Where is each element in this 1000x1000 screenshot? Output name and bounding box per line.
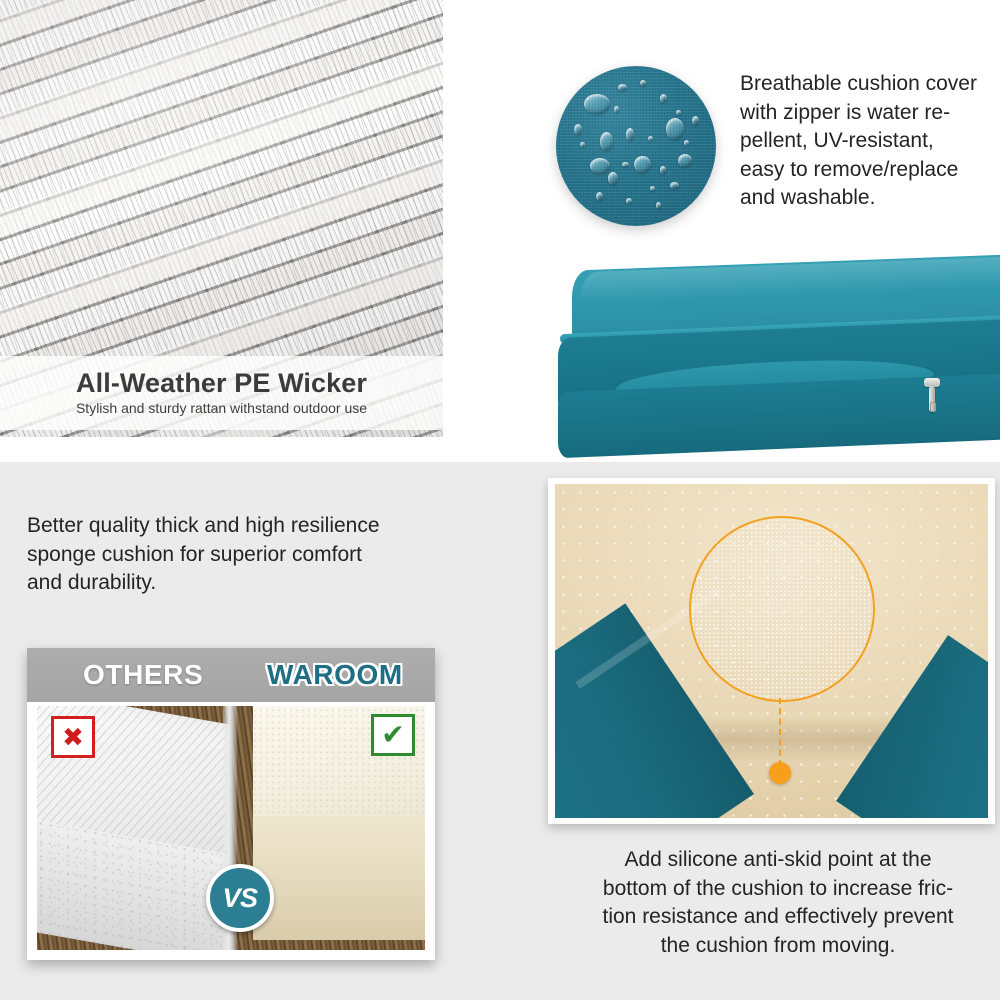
water-repellent-description: Breathable cushion cover with zipper is … <box>740 70 1000 213</box>
zipper-pull-icon <box>924 378 940 412</box>
silicone-point-marker-icon <box>769 762 791 784</box>
waroom-foam-face <box>253 816 425 940</box>
teal-cushion-with-zipper-photo <box>520 250 1000 462</box>
wicker-subtitle: Stylish and sturdy rattan withstand outd… <box>76 401 367 416</box>
infographic-page: All-Weather PE Wicker Stylish and sturdy… <box>0 0 1000 1000</box>
wicker-caption-band: All-Weather PE Wicker Stylish and sturdy… <box>0 356 443 430</box>
anti-skid-description: Add silicone anti-skid point at the bott… <box>556 846 1000 960</box>
copy-line: and durability. <box>27 569 447 598</box>
anti-skid-photo-card <box>548 478 995 824</box>
red-cross-badge-icon: ✖ <box>51 716 95 758</box>
copy-line: Add silicone anti-skid point at the <box>556 846 1000 875</box>
foam-comparison-card: OTHERS WAROOM ✖ ✔ VS <box>27 648 435 960</box>
versus-badge: VS <box>206 864 274 932</box>
copy-line: and washable. <box>740 184 1000 213</box>
copy-line: with zipper is water re- <box>740 99 1000 128</box>
anti-skid-photo <box>555 484 988 818</box>
copy-line: easy to remove/replace <box>740 156 1000 185</box>
comparison-label-waroom: WAROOM <box>267 659 403 691</box>
copy-line: bottom of the cushion to increase fric- <box>556 875 1000 904</box>
water-droplets-circle-icon <box>556 66 716 226</box>
copy-line: pellent, UV-resistant, <box>740 127 1000 156</box>
versus-label: VS <box>222 883 257 914</box>
magnifier-stem <box>779 698 781 766</box>
magnifier-circle-icon <box>689 516 875 702</box>
copy-line: the cushion from moving. <box>556 932 1000 961</box>
copy-line: Breathable cushion cover <box>740 70 1000 99</box>
copy-line: tion resistance and effectively prevent <box>556 903 1000 932</box>
sponge-quality-description: Better quality thick and high resilience… <box>27 512 447 598</box>
green-check-badge-icon: ✔ <box>371 714 415 756</box>
zipper-tab <box>929 386 935 412</box>
comparison-label-others: OTHERS <box>83 659 203 691</box>
cross-glyph: ✖ <box>62 724 84 750</box>
copy-line: Better quality thick and high resilience <box>27 512 447 541</box>
wicker-title: All-Weather PE Wicker <box>76 369 367 397</box>
wicker-photo-panel: All-Weather PE Wicker Stylish and sturdy… <box>0 0 443 437</box>
foam-comparison-photo: ✖ ✔ VS <box>37 706 425 950</box>
check-glyph: ✔ <box>381 721 404 749</box>
copy-line: sponge cushion for superior comfort <box>27 541 447 570</box>
